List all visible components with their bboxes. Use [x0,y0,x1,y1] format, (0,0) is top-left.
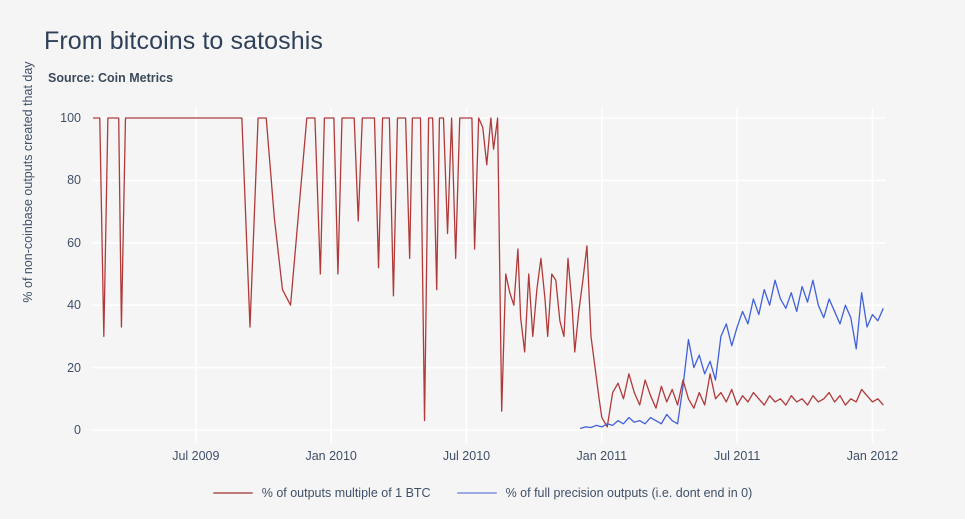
legend-swatch-icon [457,492,497,494]
line-chart-svg [0,0,965,519]
y-tick-label: 80 [41,174,81,187]
legend-label: % of outputs multiple of 1 BTC [262,486,431,500]
chart-page: From bitcoins to satoshis Source: Coin M… [0,0,965,519]
gridlines [93,108,886,443]
series-line-2 [580,280,883,428]
legend-swatch-icon [213,492,253,494]
x-tick-label: Jan 2010 [271,450,391,463]
y-tick-label: 100 [41,112,81,125]
x-tick-label: Jul 2010 [406,450,526,463]
y-tick-label: 40 [41,299,81,312]
y-tick-label: 60 [41,237,81,250]
x-tick-label: Jan 2011 [542,450,662,463]
x-tick-label: Jul 2011 [677,450,797,463]
x-tick-label: Jul 2009 [136,450,256,463]
series-lines [93,118,883,428]
legend-item-1[interactable]: % of outputs multiple of 1 BTC [213,486,431,500]
y-tick-label: 0 [41,424,81,437]
y-axis-title: % of non-coinbase outputs created that d… [21,22,35,342]
chart-plot-area: % of non-coinbase outputs created that d… [0,0,965,519]
chart-legend: % of outputs multiple of 1 BTC% of full … [0,486,965,500]
x-tick-label: Jan 2012 [812,450,932,463]
series-line-1 [93,118,883,427]
legend-item-2[interactable]: % of full precision outputs (i.e. dont e… [457,486,753,500]
y-tick-label: 20 [41,362,81,375]
legend-label: % of full precision outputs (i.e. dont e… [506,486,753,500]
